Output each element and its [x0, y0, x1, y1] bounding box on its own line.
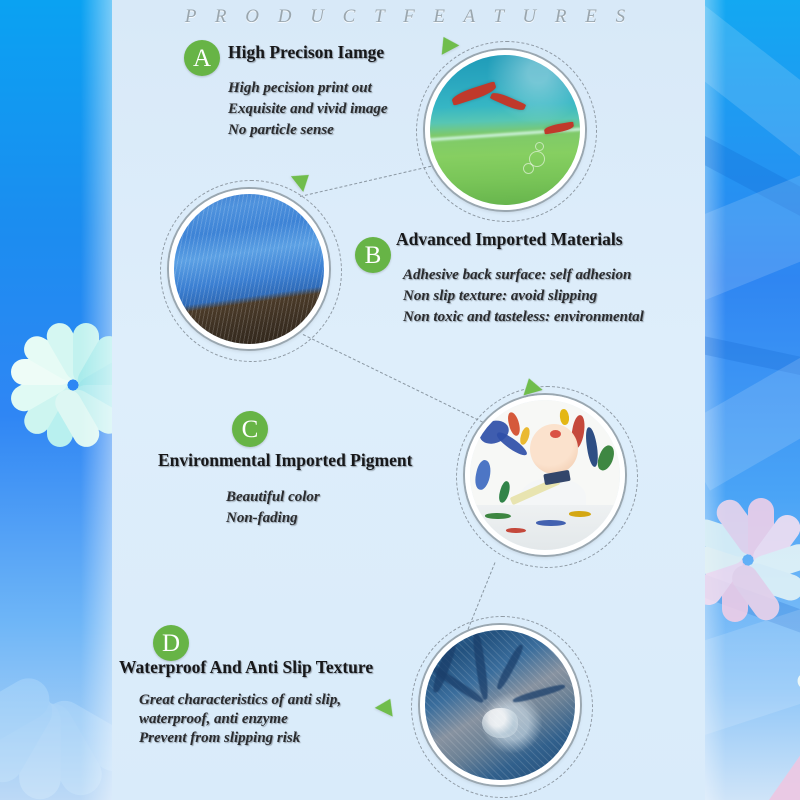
- water-droplet: [482, 708, 518, 738]
- fish-shape: [544, 121, 575, 134]
- fish-shape: [490, 90, 527, 113]
- feature-image-b: [169, 189, 329, 349]
- feature-image-a: [425, 50, 585, 210]
- feature-image-d: [420, 625, 580, 785]
- product-features-infographic: P R O D U C T F E A T U R E S: [0, 0, 800, 800]
- page-header: P R O D U C T F E A T U R E S: [112, 6, 705, 28]
- right-decorative-edge: [705, 0, 800, 800]
- left-decorative-edge: [0, 0, 112, 800]
- feature-image-c: [465, 395, 625, 555]
- paper-floor: [470, 505, 620, 550]
- page-title: P R O D U C T F E A T U R E S: [112, 6, 705, 28]
